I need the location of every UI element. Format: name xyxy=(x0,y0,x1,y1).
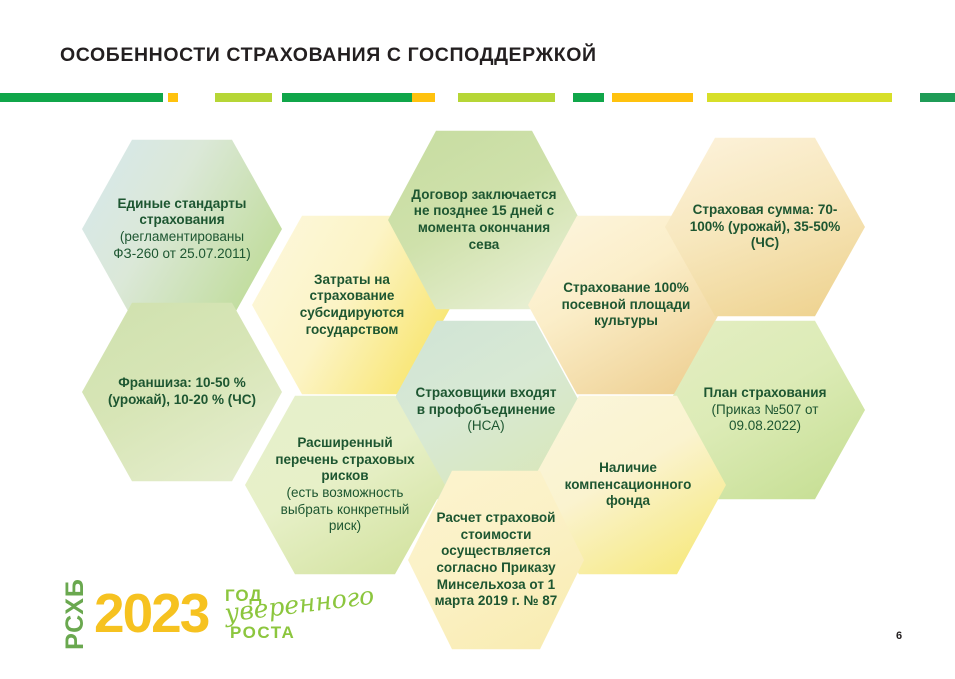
hexagon-main-text: Страховая сумма: 70-100% (урожай), 35-50… xyxy=(687,202,843,252)
page-number: 6 xyxy=(896,630,902,642)
hexagon-main-text: Затраты на страхование субсидируются гос… xyxy=(274,272,430,339)
hexagon-main-text: Расширенный перечень страховых рисков xyxy=(267,435,423,485)
hexagon-main-text: Единые стандарты страхования xyxy=(104,196,260,229)
hexagon-text: Расширенный перечень страховых рисков(ес… xyxy=(267,435,423,535)
hex-unified-standards: Единые стандарты страхования(регламентир… xyxy=(82,137,282,321)
hexagon-main-text: Франшиза: 10-50 % (урожай), 10-20 % (ЧС) xyxy=(104,375,260,408)
rshb-logo: РСХБ 2023 ГОД уверенного РОСТА xyxy=(58,583,278,645)
hexagon-grid: Единые стандарты страхования(регламентир… xyxy=(0,0,955,679)
hexagon-main-text: Страховщики входят в профобъединение xyxy=(410,385,563,418)
hexagon-sub-text: (есть возможность выбрать конкретный рис… xyxy=(267,485,423,535)
hexagon-text: Расчет страховой стоимости осуществляетс… xyxy=(427,510,564,610)
hexagon-text: Страховщики входят в профобъединение(НСА… xyxy=(410,385,563,435)
hexagon-text: Единые стандарты страхования(регламентир… xyxy=(104,196,260,263)
hexagon-sub-text: (Приказ №507 от 09.08.2022) xyxy=(687,402,843,435)
hex-franchise: Франшиза: 10-50 % (урожай), 10-20 % (ЧС) xyxy=(82,300,282,484)
hexagon-text: Страховая сумма: 70-100% (урожай), 35-50… xyxy=(687,202,843,252)
hexagon-text: Затраты на страхование субсидируются гос… xyxy=(274,272,430,339)
hexagon-main-text: Страхование 100% посевной площади культу… xyxy=(550,280,703,330)
hexagon-text: Наличие компенсационного фонда xyxy=(552,460,705,510)
hexagon-main-text: Наличие компенсационного фонда xyxy=(552,460,705,510)
hexagon-main-text: Расчет страховой стоимости осуществляетс… xyxy=(427,510,564,610)
logo-year-text: 2023 xyxy=(94,583,208,643)
hexagon-text: Страхование 100% посевной площади культу… xyxy=(550,280,703,330)
logo-word-rosta: РОСТА xyxy=(230,624,295,641)
hexagon-text: План страхования(Приказ №507 от 09.08.20… xyxy=(687,385,843,435)
hexagon-text: Франшиза: 10-50 % (урожай), 10-20 % (ЧС) xyxy=(104,375,260,408)
hexagon-text: Договор заключается не позднее 15 дней с… xyxy=(409,187,559,254)
hexagon-main-text: Договор заключается не позднее 15 дней с… xyxy=(409,187,559,254)
hexagon-sub-text: (регламентированы ФЗ-260 от 25.07.2011) xyxy=(104,229,260,262)
hexagon-sub-text: (НСА) xyxy=(410,418,563,435)
hexagon-main-text: План страхования xyxy=(687,385,843,402)
